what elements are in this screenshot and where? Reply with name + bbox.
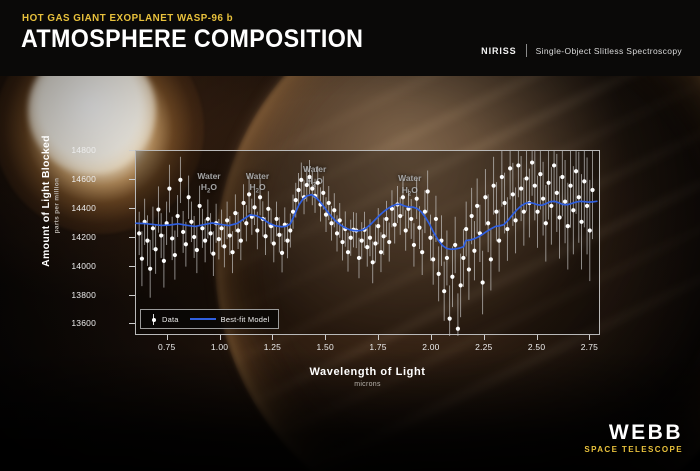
- data-point: [582, 179, 586, 183]
- data-point: [566, 224, 570, 228]
- data-point: [211, 252, 215, 256]
- data-point: [409, 217, 413, 221]
- data-point: [412, 243, 416, 247]
- instrument-name: NIRISS: [481, 46, 516, 56]
- data-point: [489, 257, 493, 261]
- data-point: [263, 234, 267, 238]
- data-point: [307, 175, 311, 179]
- data-point: [519, 186, 523, 190]
- x-tick-label: 2.00: [406, 342, 456, 352]
- data-point: [571, 208, 575, 212]
- data-point: [310, 186, 314, 190]
- data-point: [230, 250, 234, 254]
- data-point: [173, 253, 177, 257]
- data-point: [176, 214, 180, 218]
- data-point: [442, 289, 446, 293]
- data-point: [516, 163, 520, 167]
- data-point: [508, 166, 512, 170]
- data-point: [327, 201, 331, 205]
- legend-item-data: Data: [150, 314, 179, 325]
- data-point: [349, 236, 353, 240]
- data-point: [382, 234, 386, 238]
- data-point: [338, 218, 342, 222]
- data-point: [162, 259, 166, 263]
- data-point: [552, 163, 556, 167]
- data-point: [538, 172, 542, 176]
- data-point: [252, 205, 256, 209]
- data-point: [217, 237, 221, 241]
- data-point: [445, 256, 449, 260]
- webb-tagline: SPACE TELESCOPE: [584, 445, 683, 454]
- data-point: [423, 210, 427, 214]
- data-point: [404, 228, 408, 232]
- data-point-icon: [150, 314, 157, 325]
- data-point: [450, 275, 454, 279]
- data-point: [461, 256, 465, 260]
- plot-area: [135, 150, 600, 335]
- data-point: [428, 236, 432, 240]
- data-point: [514, 218, 518, 222]
- y-tick-label: 14400: [36, 203, 96, 213]
- data-point: [470, 214, 474, 218]
- data-point: [266, 207, 270, 211]
- data-point: [494, 210, 498, 214]
- data-point: [585, 204, 589, 208]
- y-tick-label: 13800: [36, 290, 96, 300]
- data-point: [288, 228, 292, 232]
- data-point: [379, 250, 383, 254]
- legend-label-data: Data: [162, 315, 179, 324]
- data-point: [401, 195, 405, 199]
- data-point: [588, 228, 592, 232]
- x-tick-label: 2.75: [564, 342, 614, 352]
- data-point: [577, 195, 581, 199]
- data-point: [472, 249, 476, 253]
- data-point: [563, 199, 567, 203]
- data-point: [505, 227, 509, 231]
- data-point: [373, 241, 377, 245]
- data-point: [209, 231, 213, 235]
- data-point: [492, 184, 496, 188]
- x-tick-label: 2.50: [512, 342, 562, 352]
- data-point: [156, 207, 160, 211]
- data-point: [294, 198, 298, 202]
- data-point: [255, 228, 259, 232]
- data-point: [285, 239, 289, 243]
- data-point: [329, 221, 333, 225]
- data-point: [178, 178, 182, 182]
- data-points: [137, 160, 595, 330]
- data-point: [434, 217, 438, 221]
- data-point: [530, 160, 534, 164]
- x-tick-label: 1.25: [247, 342, 297, 352]
- data-point: [417, 226, 421, 230]
- data-point: [280, 251, 284, 255]
- webb-logo: WEBB SPACE TELESCOPE: [584, 422, 683, 454]
- data-point: [170, 236, 174, 240]
- poster: HOT GAS GIANT EXOPLANET WASP-96 b ATMOSP…: [0, 0, 700, 471]
- data-point: [456, 327, 460, 331]
- data-point: [181, 230, 185, 234]
- data-point: [398, 214, 402, 218]
- data-point: [241, 201, 245, 205]
- data-point: [296, 188, 300, 192]
- data-point: [464, 227, 468, 231]
- data-point: [546, 181, 550, 185]
- data-point: [236, 228, 240, 232]
- data-point: [535, 210, 539, 214]
- data-point: [200, 226, 204, 230]
- data-point: [555, 191, 559, 195]
- data-point: [305, 183, 309, 187]
- instrument-divider: [526, 44, 527, 57]
- data-point: [258, 195, 262, 199]
- data-point: [579, 220, 583, 224]
- data-point: [574, 169, 578, 173]
- data-point: [332, 208, 336, 212]
- header-bar: HOT GAS GIANT EXOPLANET WASP-96 b ATMOSP…: [0, 0, 700, 76]
- x-tick-label: 1.75: [353, 342, 403, 352]
- data-point: [225, 218, 229, 222]
- x-tick-label: 0.75: [142, 342, 192, 352]
- data-point: [533, 184, 537, 188]
- data-point: [371, 260, 375, 264]
- data-point: [481, 280, 485, 284]
- data-point: [467, 267, 471, 271]
- data-point: [368, 236, 372, 240]
- data-point: [437, 272, 441, 276]
- data-point: [376, 224, 380, 228]
- y-tick-label: 14600: [36, 174, 96, 184]
- data-point: [497, 239, 501, 243]
- data-point: [222, 244, 226, 248]
- data-point: [365, 245, 369, 249]
- data-point: [316, 181, 320, 185]
- y-tick-label: 14000: [36, 261, 96, 271]
- data-point: [549, 204, 553, 208]
- data-point: [228, 233, 232, 237]
- data-point: [426, 189, 430, 193]
- data-point: [590, 188, 594, 192]
- x-tick-label: 2.25: [459, 342, 509, 352]
- data-point: [431, 257, 435, 261]
- data-point: [483, 195, 487, 199]
- data-point: [167, 186, 171, 190]
- data-point: [544, 221, 548, 225]
- data-point: [189, 220, 193, 224]
- data-point: [187, 195, 191, 199]
- data-point: [568, 184, 572, 188]
- data-point: [277, 233, 281, 237]
- data-point: [541, 197, 545, 201]
- data-point: [159, 233, 163, 237]
- webb-wordmark: WEBB: [584, 422, 683, 443]
- data-point: [220, 226, 224, 230]
- data-point: [148, 267, 152, 271]
- poster-title: ATMOSPHERE COMPOSITION: [21, 27, 363, 52]
- data-point: [475, 204, 479, 208]
- data-point: [511, 192, 515, 196]
- observing-mode: Single-Object Slitless Spectroscopy: [536, 46, 682, 56]
- chart-legend[interactable]: Data Best-fit Model: [140, 309, 279, 329]
- data-point: [195, 248, 199, 252]
- data-point: [503, 201, 507, 205]
- data-point: [145, 239, 149, 243]
- data-point: [203, 239, 207, 243]
- y-tick-label: 14800: [36, 145, 96, 155]
- data-point: [321, 191, 325, 195]
- data-point: [154, 247, 158, 251]
- data-point: [346, 250, 350, 254]
- data-point: [415, 197, 419, 201]
- y-tick-label: 13600: [36, 318, 96, 328]
- poster-subtitle: HOT GAS GIANT EXOPLANET WASP-96 b: [22, 12, 233, 24]
- x-tick-label: 1.50: [300, 342, 350, 352]
- data-point: [448, 317, 452, 321]
- model-line-icon: [190, 318, 216, 320]
- data-point: [233, 211, 237, 215]
- data-point: [357, 256, 361, 260]
- data-point: [239, 239, 243, 243]
- data-point: [151, 226, 155, 230]
- data-point: [360, 239, 364, 243]
- data-point: [393, 223, 397, 227]
- data-point: [560, 175, 564, 179]
- data-point: [453, 243, 457, 247]
- data-point: [192, 235, 196, 239]
- data-point: [522, 210, 526, 214]
- data-point: [500, 175, 504, 179]
- data-point: [387, 240, 391, 244]
- data-point: [557, 215, 561, 219]
- data-point: [137, 231, 141, 235]
- data-point: [525, 176, 529, 180]
- legend-label-model: Best-fit Model: [221, 315, 270, 324]
- data-point: [140, 257, 144, 261]
- data-point: [420, 250, 424, 254]
- instrument-info: NIRISS Single-Object Slitless Spectrosco…: [481, 44, 682, 57]
- data-point: [299, 178, 303, 182]
- y-tick-label: 14200: [36, 232, 96, 242]
- data-point: [272, 241, 276, 245]
- data-point: [486, 221, 490, 225]
- data-point: [206, 217, 210, 221]
- data-point: [247, 192, 251, 196]
- x-tick-label: 1.00: [195, 342, 245, 352]
- data-point: [384, 217, 388, 221]
- data-point: [198, 204, 202, 208]
- legend-item-model: Best-fit Model: [190, 315, 270, 324]
- data-point: [459, 283, 463, 287]
- data-point: [335, 231, 339, 235]
- data-point: [244, 221, 248, 225]
- data-point: [274, 217, 278, 221]
- data-point: [340, 240, 344, 244]
- data-point: [184, 242, 188, 246]
- x-axis-units: microns: [135, 381, 600, 388]
- x-axis-label: Wavelength of Light: [135, 366, 600, 378]
